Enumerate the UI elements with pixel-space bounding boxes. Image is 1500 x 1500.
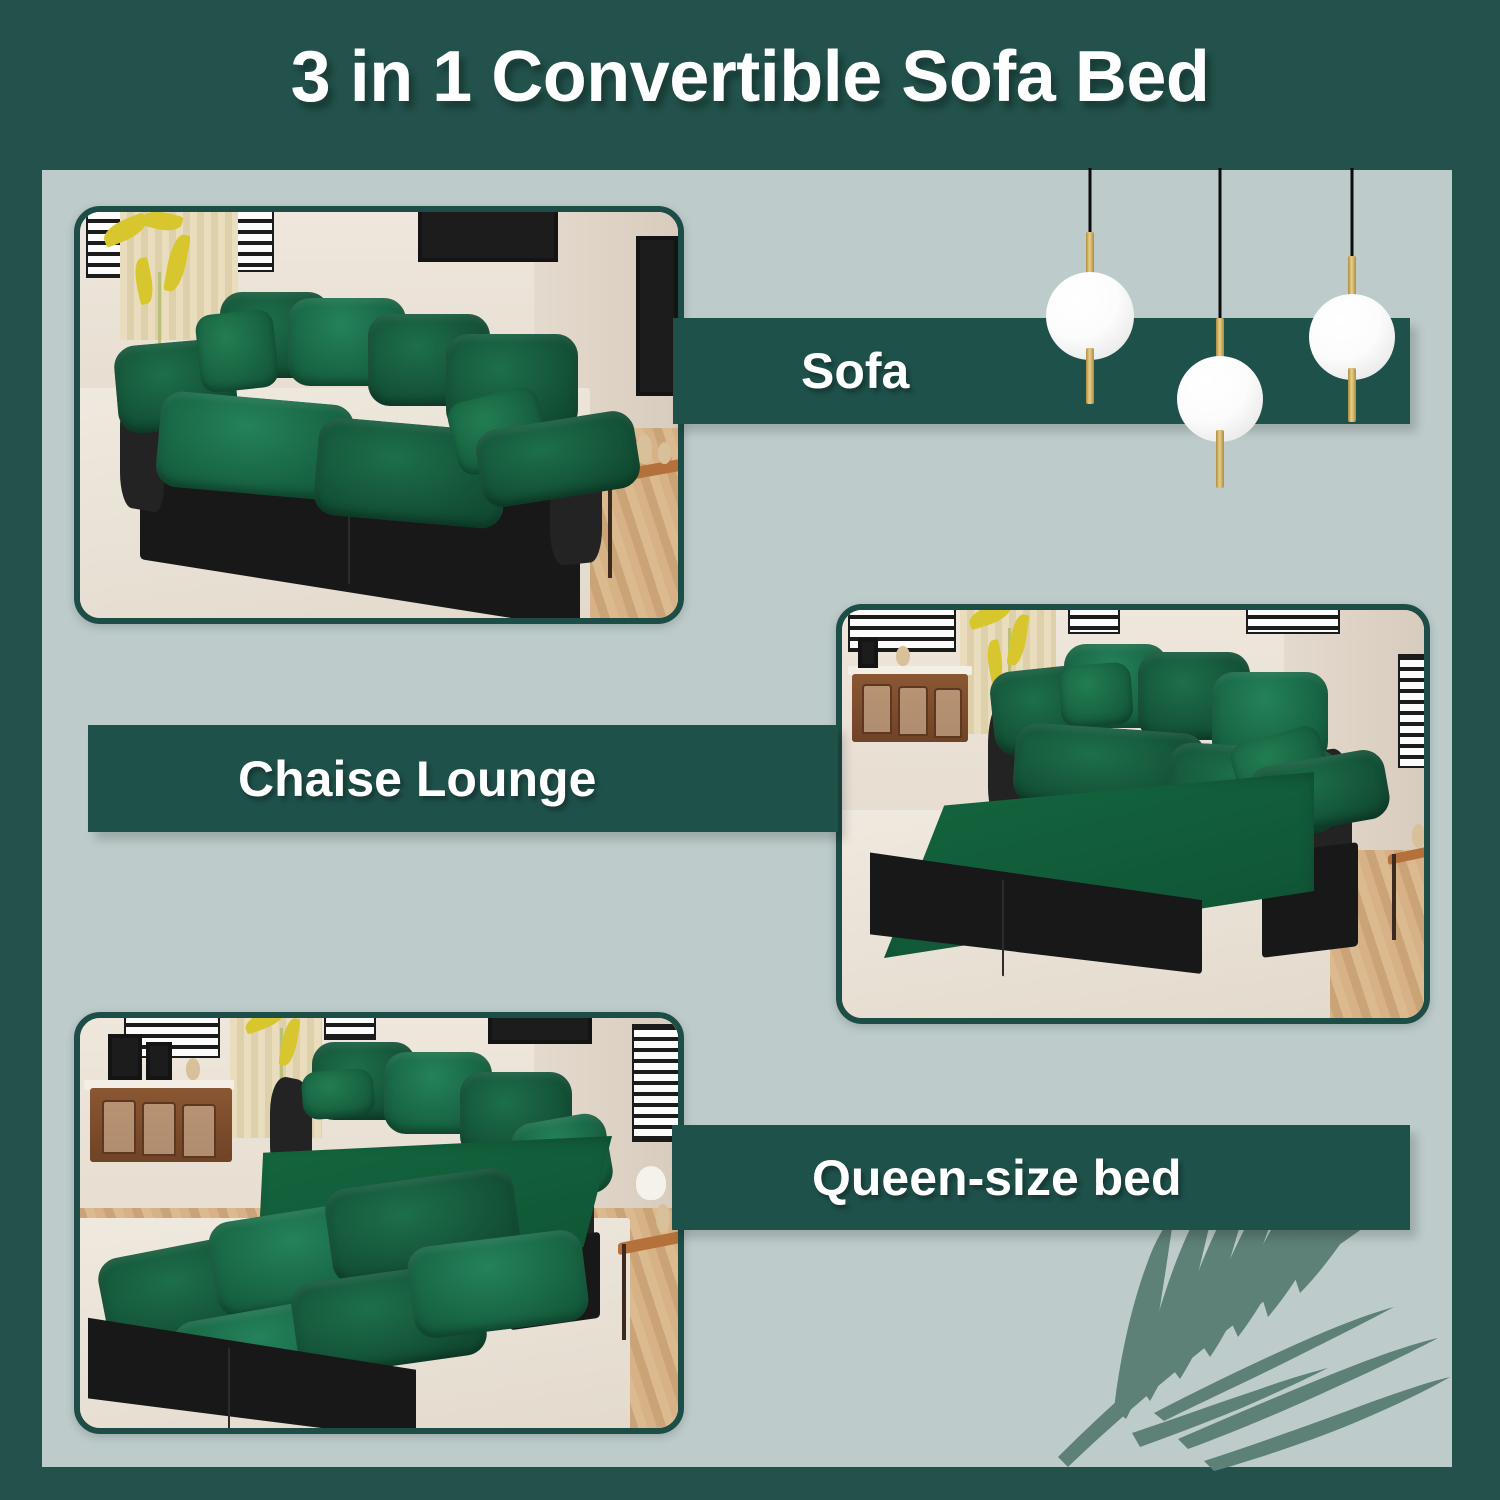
feature-photo-sofa — [74, 206, 684, 624]
sofa-scene — [80, 212, 678, 618]
feature-photo-chaise — [836, 604, 1430, 1024]
feature-label-chaise: Chaise Lounge — [88, 725, 838, 832]
page-title: 3 in 1 Convertible Sofa Bed — [0, 36, 1500, 118]
feature-label-bed: Queen-size bed — [672, 1125, 1410, 1230]
feature-label-bed-text: Queen-size bed — [812, 1149, 1182, 1207]
feature-label-sofa-text: Sofa — [801, 342, 909, 400]
feature-label-chaise-text: Chaise Lounge — [238, 750, 596, 808]
feature-photo-bed — [74, 1012, 684, 1434]
bed-scene — [80, 1018, 678, 1428]
palm-frond-decoration — [1028, 1057, 1458, 1477]
chaise-scene — [842, 610, 1424, 1018]
feature-label-sofa: Sofa — [673, 318, 1410, 424]
